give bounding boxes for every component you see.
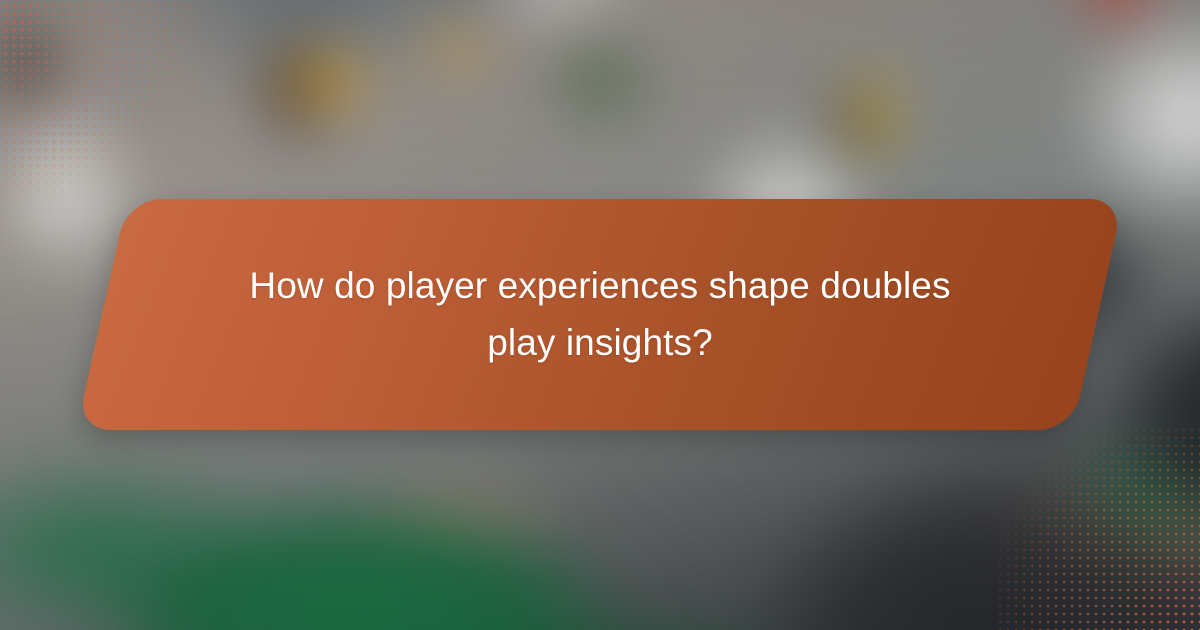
headline-card: How do player experiences shape doubles … xyxy=(102,199,1098,430)
social-card-canvas: How do player experiences shape doubles … xyxy=(0,0,1200,630)
headline-card-content: How do player experiences shape doubles … xyxy=(102,199,1098,430)
headline-text: How do player experiences shape doubles … xyxy=(230,258,970,370)
